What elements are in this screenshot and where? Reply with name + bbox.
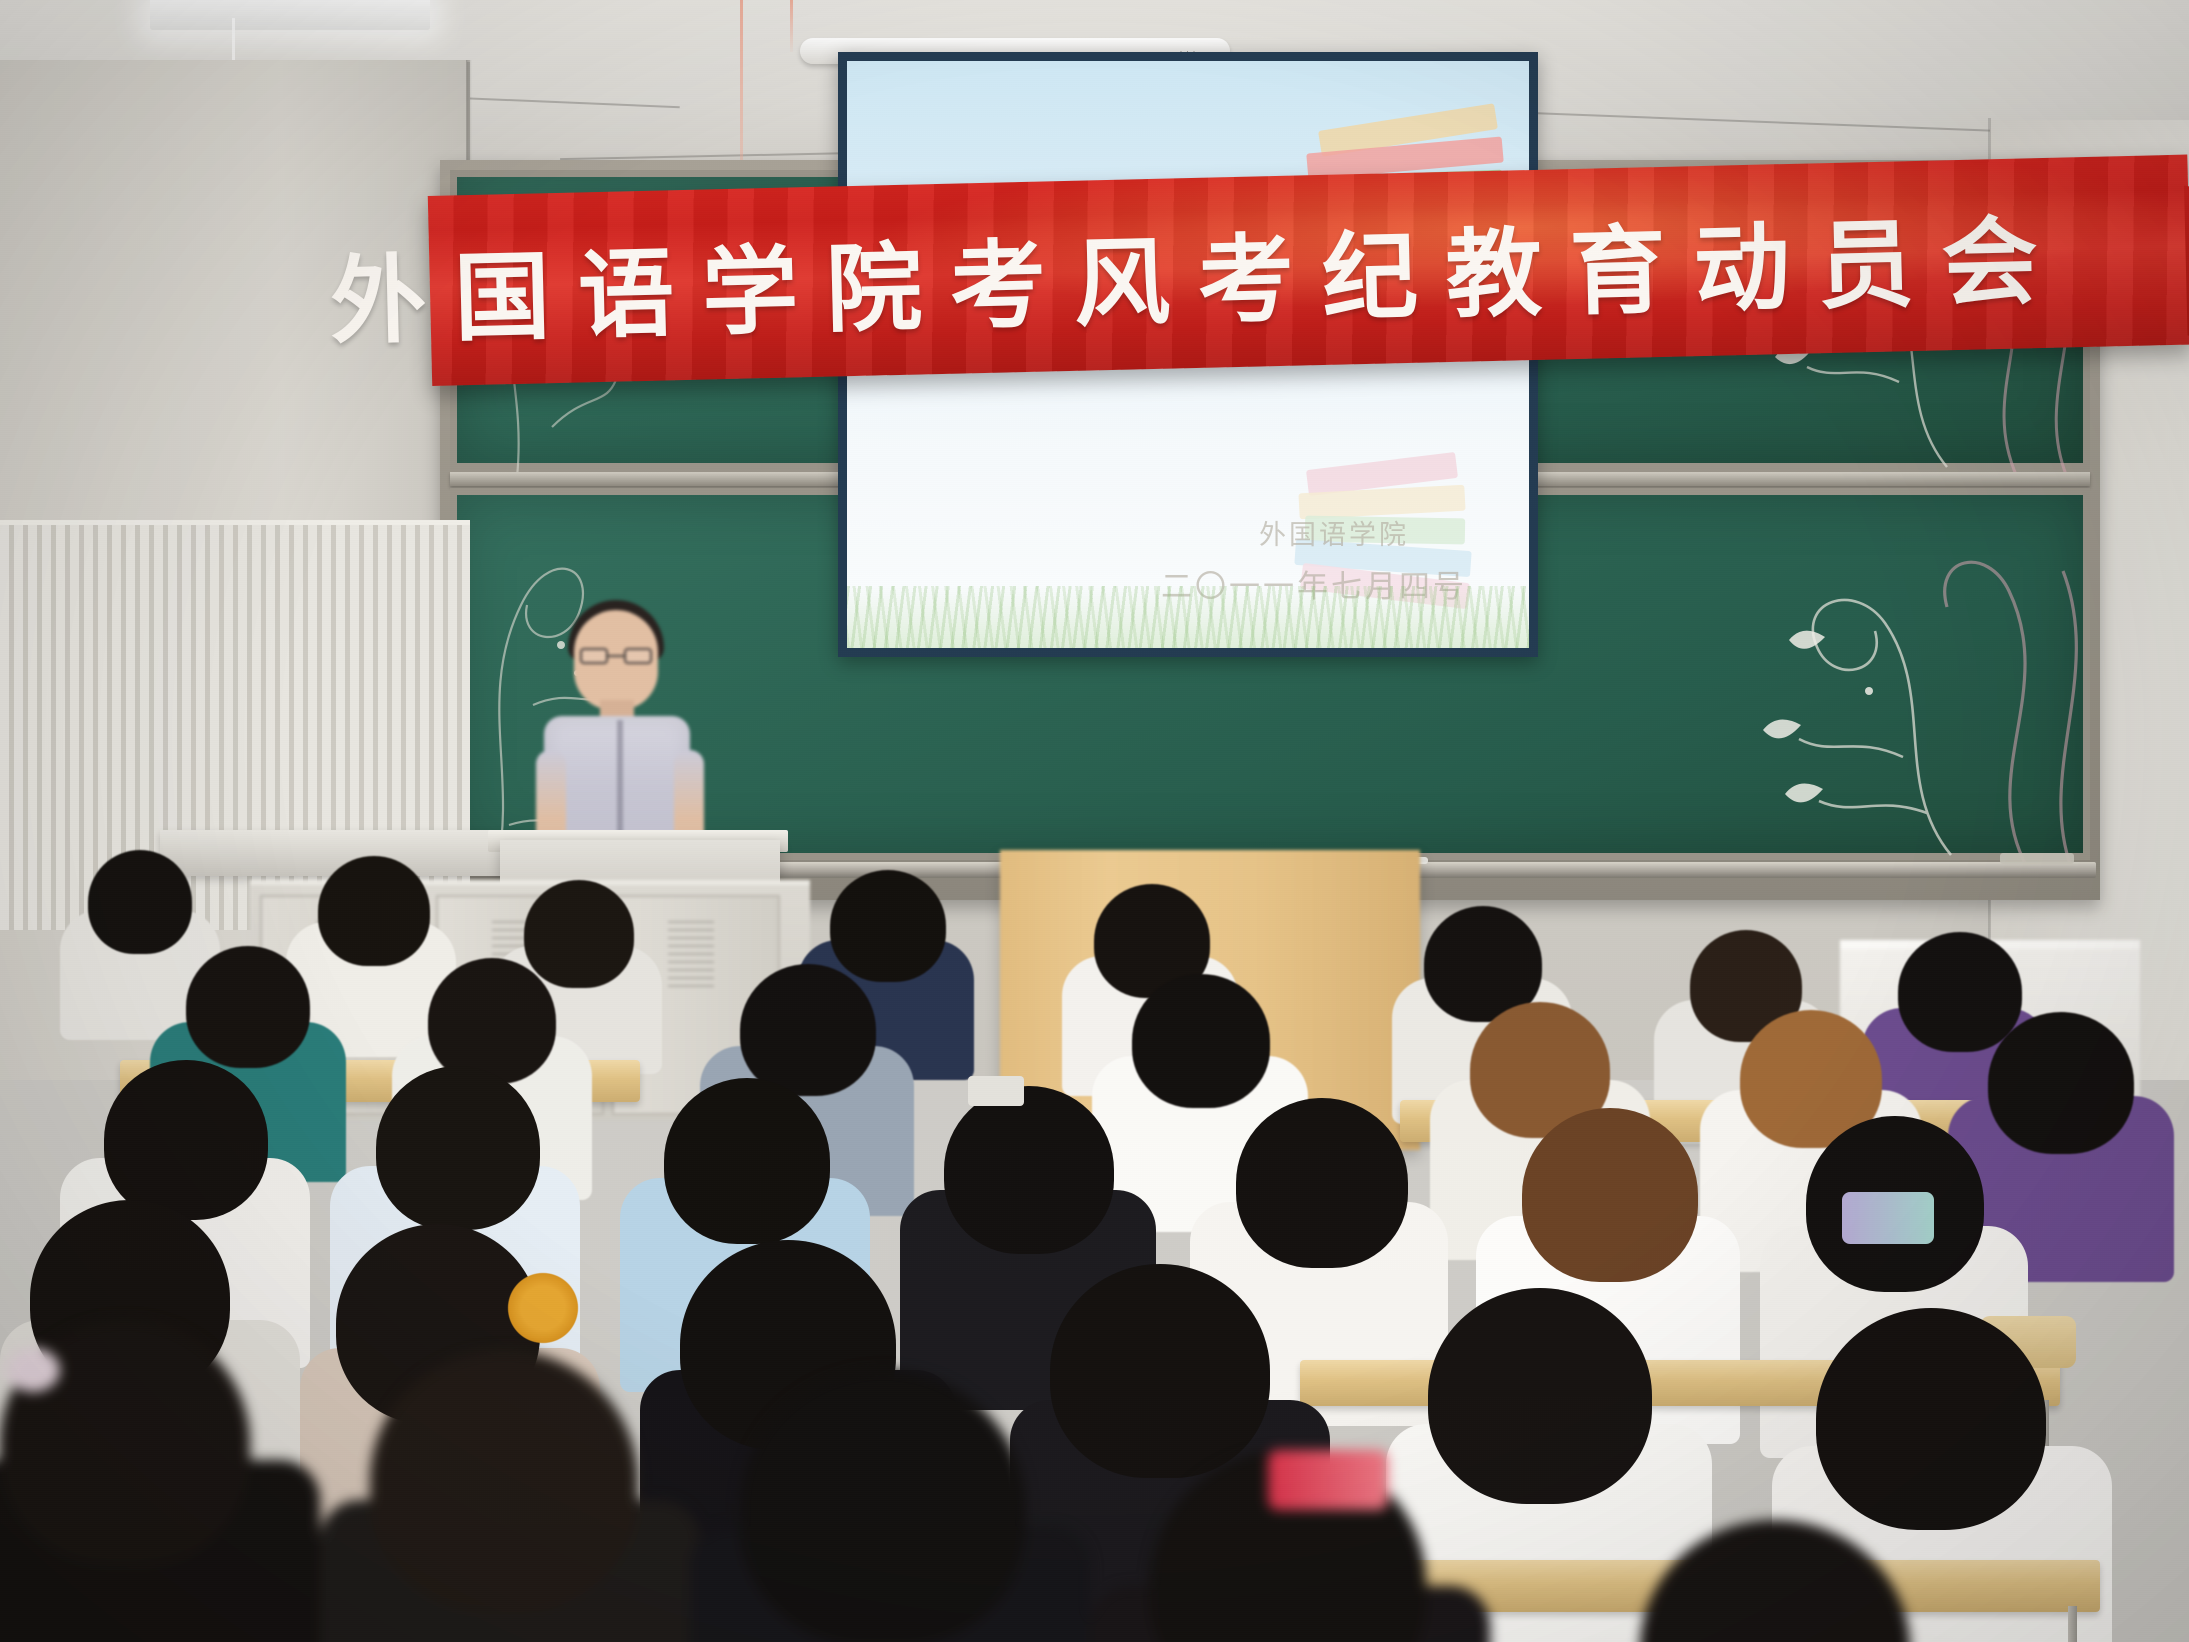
slide-signature-org: 外国语学院 [1259, 513, 1409, 552]
audience-head [830, 870, 946, 982]
audience-head [1898, 932, 2022, 1052]
audience-head [318, 856, 430, 966]
glasses-icon [580, 648, 652, 664]
audience-head [1236, 1098, 1408, 1268]
hanging-string [790, 0, 793, 52]
audience-head [1522, 1108, 1698, 1282]
hair-flower-clip [500, 1270, 586, 1346]
audience-head [740, 964, 876, 1096]
grass-illustration [847, 586, 1529, 648]
chair-leg [2068, 1606, 2077, 1642]
audience-head [376, 1066, 540, 1230]
audience-head [186, 946, 310, 1068]
hair-bow [1842, 1192, 1934, 1244]
audience-head [1428, 1288, 1652, 1504]
audience-head [1816, 1308, 2046, 1530]
audience-head [944, 1086, 1114, 1254]
audience-head [740, 1370, 1026, 1642]
audience-head [104, 1060, 268, 1220]
audience-head [524, 880, 634, 988]
hair-clip [968, 1076, 1024, 1106]
audience-head [428, 958, 556, 1084]
audience-head [664, 1078, 830, 1244]
audience [0, 760, 2189, 1642]
ceiling-light-fixture [150, 0, 430, 30]
audience-head [1050, 1264, 1270, 1478]
audience-head [1132, 974, 1270, 1108]
hair-clip [6, 1348, 60, 1392]
audience-head [370, 1350, 638, 1612]
classroom-photo: · · · [0, 0, 2189, 1642]
audience-head [88, 850, 192, 954]
audience-head [1988, 1012, 2134, 1154]
hair-bow [1268, 1450, 1388, 1510]
